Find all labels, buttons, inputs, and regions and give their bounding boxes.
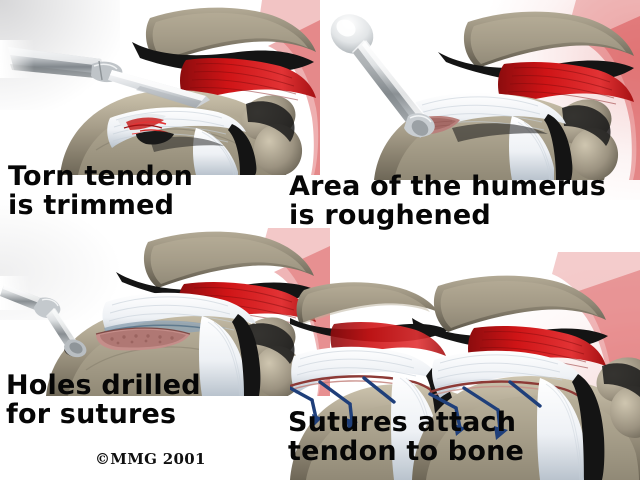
drill-icon (0, 276, 86, 357)
caption-panel-2: Area of the humerus is roughened (289, 173, 606, 230)
panel-humerus-roughened (320, 0, 640, 180)
burr-icon (323, 7, 434, 140)
shoulder-anatomy-scalpel (0, 0, 320, 175)
caption-panel-3: Holes drilled for sutures (6, 372, 201, 429)
caption-panel-4: Sutures attach tendon to bone (288, 409, 524, 466)
copyright-notice: ©MMG 2001 (95, 450, 206, 468)
caption-panel-1: Torn tendon is trimmed (8, 163, 193, 220)
panel-torn-tendon-trimmed (0, 0, 320, 175)
medical-illustration-figure: Torn tendon is trimmed Area of the humer… (0, 0, 640, 480)
shoulder-anatomy-burr (320, 0, 640, 180)
